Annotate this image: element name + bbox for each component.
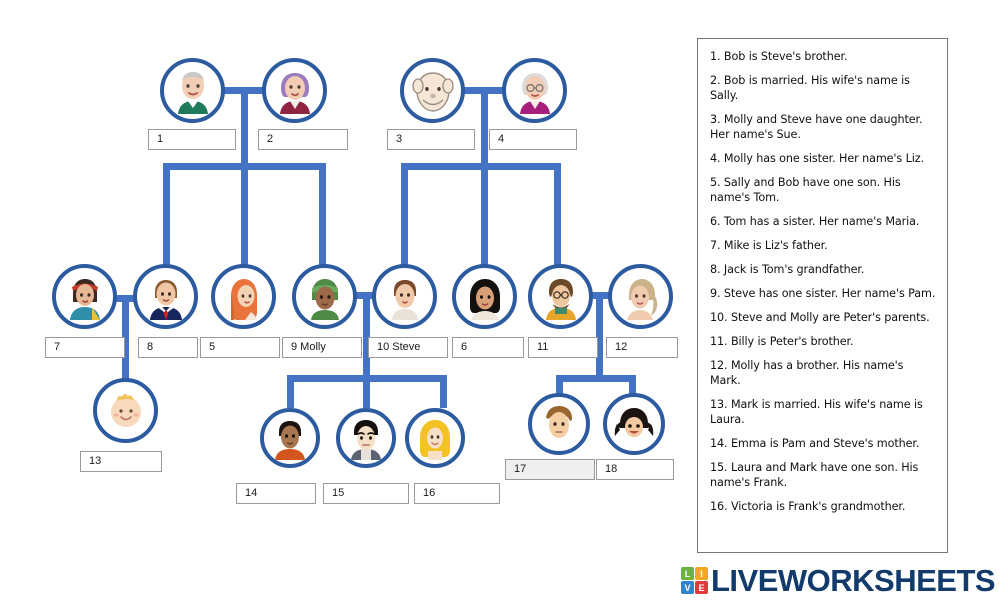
avatar-1-elderly-man xyxy=(160,58,225,123)
clue-item: 16. Victoria is Frank's grandmother. xyxy=(710,499,937,514)
answer-box-14[interactable]: 14 xyxy=(236,483,316,504)
connector-child-8 xyxy=(163,163,170,268)
answer-box-3[interactable]: 3 xyxy=(387,129,475,150)
connector-child-16 xyxy=(440,375,447,408)
answer-box-8[interactable]: 8 xyxy=(138,337,198,358)
answer-box-16[interactable]: 16 xyxy=(414,483,500,504)
avatar-17-boy-brown xyxy=(528,393,590,455)
answer-box-15[interactable]: 15 xyxy=(323,483,409,504)
clue-item: 12. Molly has a brother. His name's Mark… xyxy=(710,358,937,388)
clue-item: 8. Jack is Tom's grandfather. xyxy=(710,262,937,277)
avatar-14-boy-orange xyxy=(260,408,320,468)
answer-box-4[interactable]: 4 xyxy=(489,129,577,150)
connector-child-14 xyxy=(287,375,294,408)
connector-child-10 xyxy=(401,163,408,268)
clues-panel: 1. Bob is Steve's brother. 2. Bob is mar… xyxy=(697,38,948,553)
clue-item: 7. Mike is Liz's father. xyxy=(710,238,937,253)
avatar-13-baby xyxy=(93,378,158,443)
avatar-10-steve xyxy=(372,264,437,329)
clue-item: 9. Steve has one sister. Her name's Pam. xyxy=(710,286,937,301)
family-tree: 1 2 3 4 7 8 5 9 Molly 10 Steve 6 11 12 1… xyxy=(0,0,690,560)
avatar-2-elderly-woman xyxy=(262,58,327,123)
avatar-12-woman-blonde xyxy=(608,264,673,329)
avatar-9-molly xyxy=(292,264,357,329)
worksheet-page: 1 2 3 4 7 8 5 9 Molly 10 Steve 6 11 12 1… xyxy=(0,0,1000,607)
liveworksheets-logo: L I V E LIVEWORKSHEETS xyxy=(681,565,995,596)
clue-item: 5. Sally and Bob have one son. His name'… xyxy=(710,175,937,205)
connector-child-9 xyxy=(319,163,326,268)
clue-item: 4. Molly has one sister. Her name's Liz. xyxy=(710,151,937,166)
logo-tile-i: I xyxy=(695,567,708,580)
clue-item: 11. Billy is Peter's brother. xyxy=(710,334,937,349)
connector-drop-molly-steve xyxy=(363,292,370,378)
logo-tiles: L I V E xyxy=(681,567,708,594)
avatar-15-boy-grey xyxy=(336,408,396,468)
answer-box-6[interactable]: 6 xyxy=(452,337,524,358)
connector-drop-left-family xyxy=(241,87,248,166)
answer-box-1[interactable]: 1 xyxy=(148,129,236,150)
answer-box-5[interactable]: 5 xyxy=(200,337,280,358)
clue-item: 13. Mark is married. His wife's name is … xyxy=(710,397,937,427)
connector-drop-right-family xyxy=(481,87,488,166)
clue-item: 1. Bob is Steve's brother. xyxy=(710,49,937,64)
logo-wordmark: LIVEWORKSHEETS xyxy=(711,565,995,596)
logo-tile-v: V xyxy=(681,581,694,594)
answer-box-17[interactable]: 17 xyxy=(505,459,595,480)
answer-box-18[interactable]: 18 xyxy=(596,459,674,480)
answer-box-13[interactable]: 13 xyxy=(80,451,162,472)
connector-child-17 xyxy=(556,375,563,395)
connector-drop-11-12 xyxy=(596,292,603,378)
clue-item: 2. Bob is married. His wife's name is Sa… xyxy=(710,73,937,103)
avatar-5-woman-red-hair xyxy=(211,264,276,329)
avatar-8-man-suit xyxy=(133,264,198,329)
logo-tile-l: L xyxy=(681,567,694,580)
answer-box-9[interactable]: 9 Molly xyxy=(282,337,362,358)
answer-box-10[interactable]: 10 Steve xyxy=(368,337,448,358)
connector-child-15 xyxy=(363,375,370,408)
clue-item: 15. Laura and Mark have one son. His nam… xyxy=(710,460,937,490)
avatar-11-man-apron xyxy=(528,264,593,329)
clue-item: 10. Steve and Molly are Peter's parents. xyxy=(710,310,937,325)
answer-box-7[interactable]: 7 xyxy=(45,337,125,358)
avatar-18-girl-pigtails xyxy=(603,393,665,455)
answer-box-11[interactable]: 11 xyxy=(528,337,598,358)
connector-child-6 xyxy=(481,163,488,268)
connector-sibling-bar-11-12 xyxy=(556,375,636,382)
clue-item: 3. Molly and Steve have one daughter. He… xyxy=(710,112,937,142)
avatar-6-woman-black-hair xyxy=(452,264,517,329)
answer-box-2[interactable]: 2 xyxy=(258,129,348,150)
logo-tile-e: E xyxy=(695,581,708,594)
connector-child-5 xyxy=(241,163,248,268)
avatar-16-girl-blonde xyxy=(405,408,465,468)
avatar-7-woman-headband xyxy=(52,264,117,329)
clue-item: 14. Emma is Pam and Steve's mother. xyxy=(710,436,937,451)
avatar-3-bearded-old-man xyxy=(400,58,465,123)
answer-box-12[interactable]: 12 xyxy=(606,337,678,358)
connector-child-11 xyxy=(554,163,561,268)
avatar-4-elderly-woman-glasses xyxy=(502,58,567,123)
connector-child-18 xyxy=(629,375,636,395)
clue-item: 6. Tom has a sister. Her name's Maria. xyxy=(710,214,937,229)
